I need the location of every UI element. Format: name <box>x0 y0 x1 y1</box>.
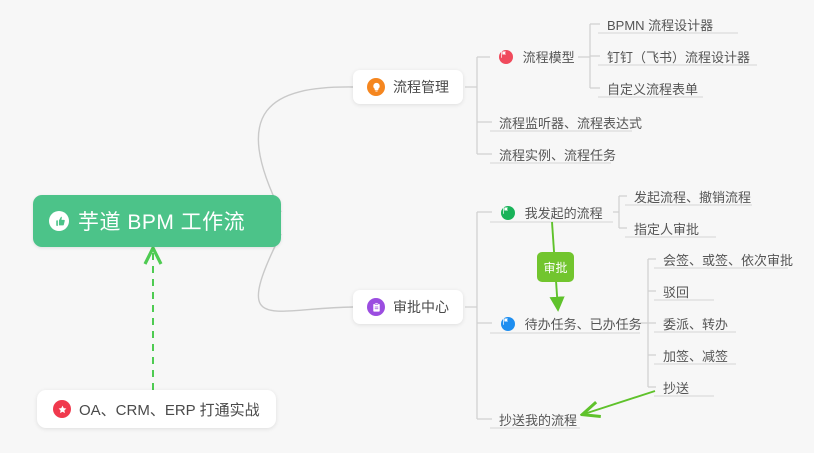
leaf-cc[interactable]: 抄送 <box>654 375 698 402</box>
thumbs-up-icon <box>49 211 69 231</box>
branch-node-flow-management[interactable]: 流程管理 <box>353 70 463 104</box>
flag-icon <box>501 317 515 331</box>
leaf-countersign[interactable]: 会签、或签、依次审批 <box>654 247 802 274</box>
leaf-label-dingtalk-feishu-designer: 钉钉（飞书）流程设计器 <box>607 47 750 66</box>
leaf-bpmn-designer[interactable]: BPMN 流程设计器 <box>598 12 722 39</box>
callout-node-oa-crm-erp[interactable]: OA、CRM、ERP 打通实战 <box>37 390 276 428</box>
leaf-label-flow-instance-task: 流程实例、流程任务 <box>499 145 616 164</box>
leaf-my-started-flows[interactable]: 我发起的流程 <box>492 200 612 227</box>
leaf-label-add-remove-sign: 加签、减签 <box>663 346 728 365</box>
leaf-label-start-cancel-flow: 发起流程、撤销流程 <box>634 187 751 206</box>
branch-label-approval-center: 审批中心 <box>393 297 449 317</box>
connector-root-to-flow-management <box>258 87 353 212</box>
annotation-approve[interactable]: 审批 <box>537 252 574 282</box>
leaf-todo-done-tasks[interactable]: 待办任务、已办任务 <box>492 311 651 338</box>
clipboard-icon <box>367 298 385 316</box>
leaf-label-todo-done-tasks: 待办任务、已办任务 <box>525 314 642 333</box>
leaf-label-delegate-transfer: 委派、转办 <box>663 314 728 333</box>
leaf-label-cc-to-me-flows: 抄送我的流程 <box>499 410 577 429</box>
leaf-label-flow-model: 流程模型 <box>523 47 575 66</box>
branch-label-flow-management: 流程管理 <box>393 77 449 97</box>
mindmap-canvas: 芋道 BPM 工作流 流程管理 审批中心 OA <box>0 0 814 453</box>
annotation-approve-label: 审批 <box>543 259 567 276</box>
leaf-reject[interactable]: 驳回 <box>654 279 698 306</box>
star-icon <box>53 400 71 418</box>
leaf-label-flow-listener-expression: 流程监听器、流程表达式 <box>499 113 642 132</box>
leaf-label-my-started-flows: 我发起的流程 <box>525 203 603 222</box>
flag-icon <box>501 206 515 220</box>
arrow-cc-to-my-flows <box>584 391 655 414</box>
leaf-dingtalk-feishu-designer[interactable]: 钉钉（飞书）流程设计器 <box>598 44 759 71</box>
leaf-cc-to-me-flows[interactable]: 抄送我的流程 <box>490 407 586 434</box>
leaf-assignee-approval[interactable]: 指定人审批 <box>625 216 708 243</box>
leaf-label-countersign: 会签、或签、依次审批 <box>663 250 793 269</box>
leaf-label-reject: 驳回 <box>663 282 689 301</box>
leaf-start-cancel-flow[interactable]: 发起流程、撤销流程 <box>625 184 760 211</box>
leaf-custom-flow-form[interactable]: 自定义流程表单 <box>598 76 707 103</box>
leaf-label-cc: 抄送 <box>663 378 689 397</box>
lightbulb-icon <box>367 78 385 96</box>
root-label: 芋道 BPM 工作流 <box>78 206 245 236</box>
branch-node-approval-center[interactable]: 审批中心 <box>353 290 463 324</box>
callout-label: OA、CRM、ERP 打通实战 <box>79 399 260 420</box>
leaf-flow-instance-task[interactable]: 流程实例、流程任务 <box>490 142 625 169</box>
leaf-add-remove-sign[interactable]: 加签、减签 <box>654 343 737 370</box>
root-node[interactable]: 芋道 BPM 工作流 <box>33 195 281 247</box>
leaf-delegate-transfer[interactable]: 委派、转办 <box>654 311 737 338</box>
leaf-label-bpmn-designer: BPMN 流程设计器 <box>607 15 713 34</box>
leaf-label-assignee-approval: 指定人审批 <box>634 219 699 238</box>
flag-icon <box>499 50 513 64</box>
leaf-flow-model[interactable]: 流程模型 <box>490 44 584 71</box>
leaf-label-custom-flow-form: 自定义流程表单 <box>607 79 698 98</box>
leaf-flow-listener-expression[interactable]: 流程监听器、流程表达式 <box>490 110 651 137</box>
